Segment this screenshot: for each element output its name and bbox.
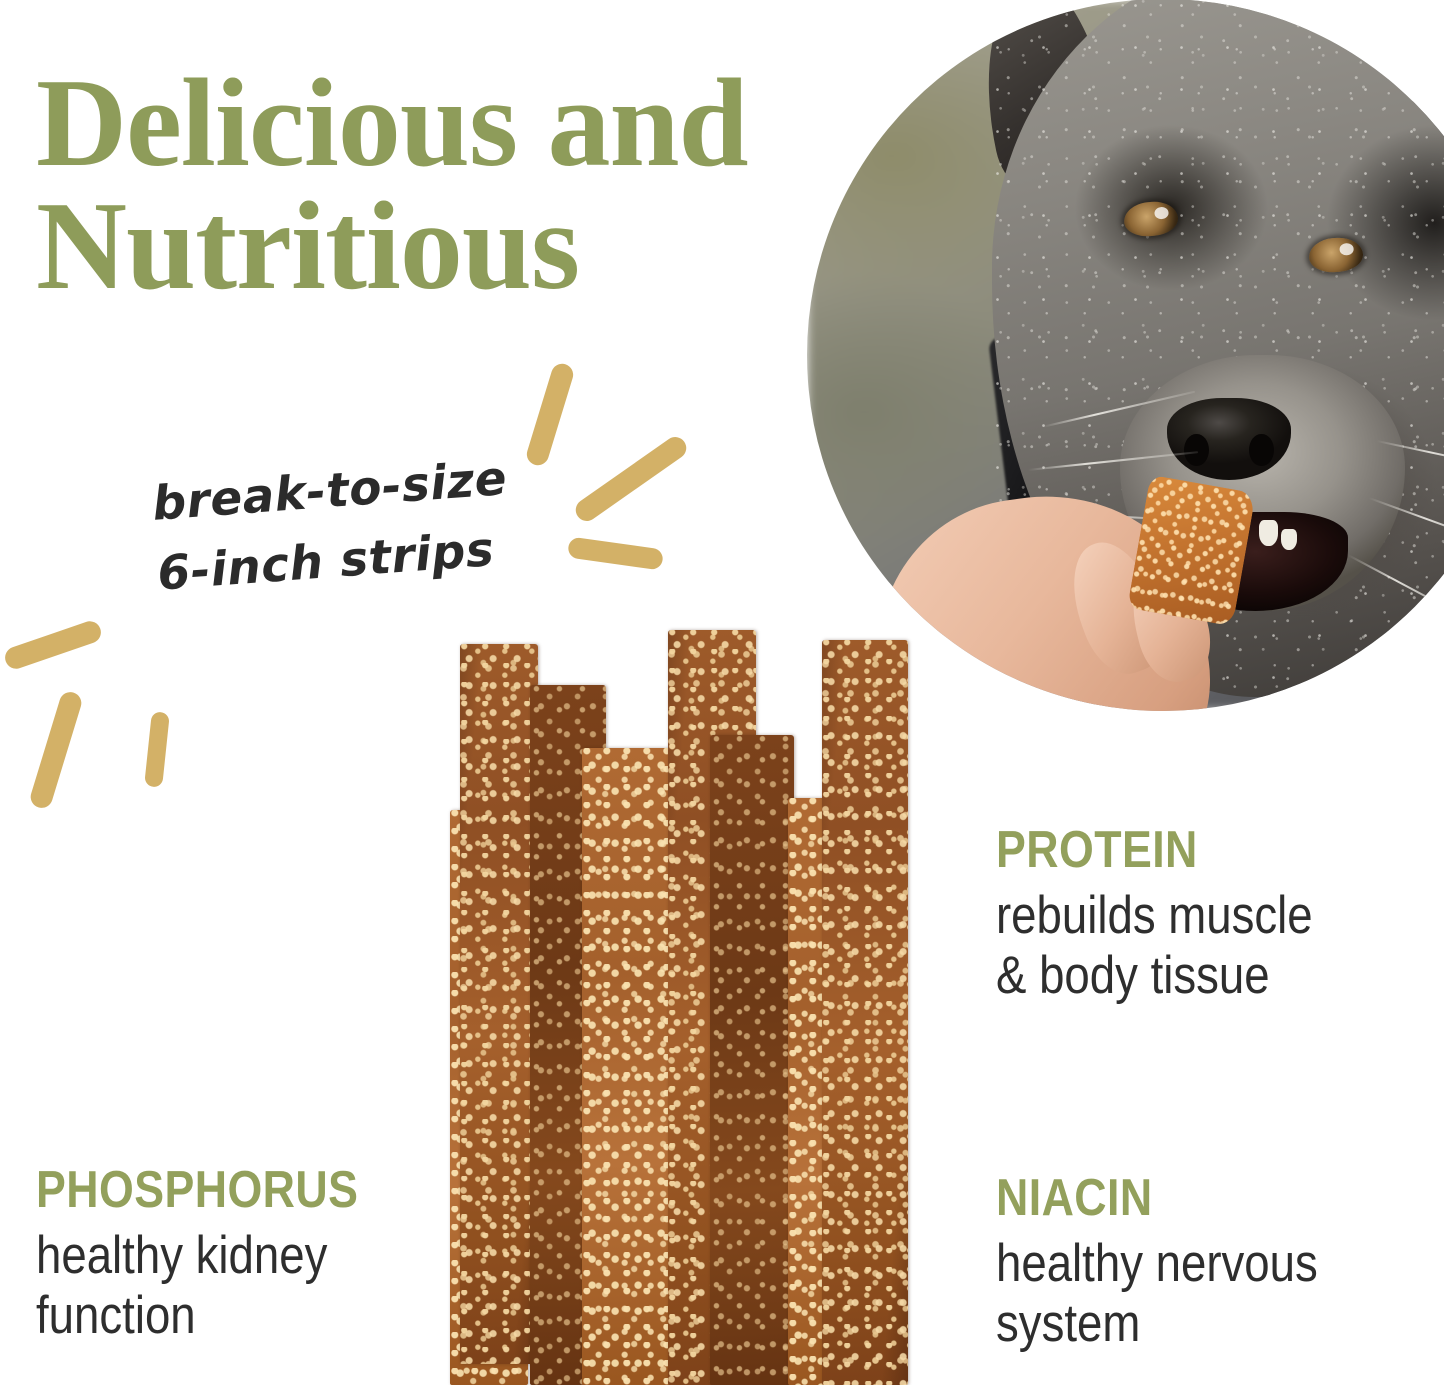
sparkle-dash-icon [567,536,664,570]
benefit-title: NIACIN [996,1172,1374,1224]
benefit-niacin: NIACIN healthy nervous system [996,1172,1436,1355]
benefit-phosphorus: PHOSPHORUS healthy kidney function [36,1164,476,1347]
benefit-body: healthy nervous system [996,1234,1374,1355]
sparkle-dash-icon [144,711,170,787]
dog-photo [807,0,1444,711]
benefit-body: healthy kidney function [36,1226,414,1347]
benefit-title: PHOSPHORUS [36,1164,414,1216]
page-title: Delicious and Nutritious [36,62,836,309]
treat-strip [822,640,908,1385]
sparkle-dash-icon [571,433,690,526]
benefit-body: rebuilds muscle & body tissue [996,886,1374,1007]
sparkle-dash-icon [28,689,84,810]
treat-strip [582,748,674,1385]
marketing-infographic: Delicious and Nutritious break-to-size 6… [0,0,1444,1385]
dog-tooth [1259,520,1278,546]
benefit-protein: PROTEIN rebuilds muscle & body tissue [996,824,1436,1007]
product-strips [410,630,985,1385]
treat-strip [710,735,794,1385]
sparkle-dash-icon [2,618,104,671]
dog-tooth [1281,529,1297,550]
benefit-title: PROTEIN [996,824,1374,876]
break-to-size-callout: break-to-size 6-inch strips [150,439,579,608]
